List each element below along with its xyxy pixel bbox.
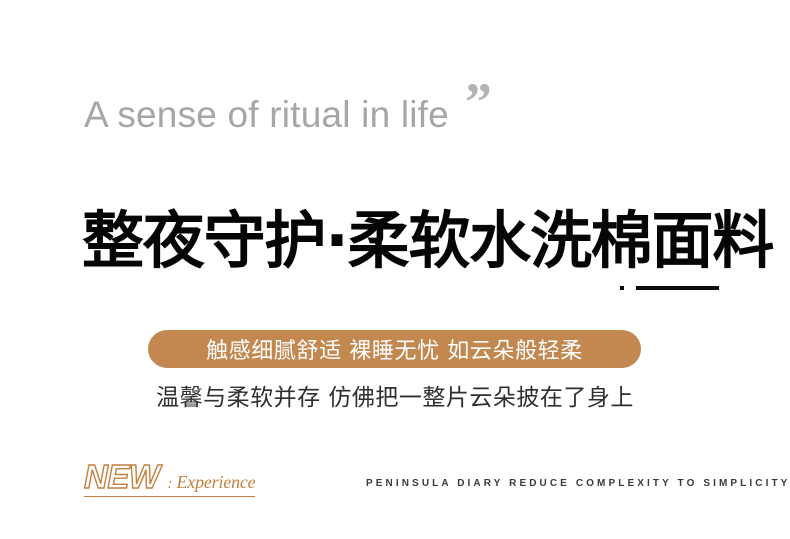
brand-logo-separator: : xyxy=(168,477,173,492)
subtitle: 温馨与柔软并存 仿佛把一整片云朵披在了身上 xyxy=(0,378,790,412)
eyebrow: A sense of ritual in life ” xyxy=(84,96,490,133)
promo-banner: A sense of ritual in life ” 整夜守护·柔软水洗棉面料… xyxy=(0,0,790,539)
feature-pill: 触感细腻舒适 裸睡无忧 如云朵般轻柔 xyxy=(148,330,641,368)
page-title: 整夜守护·柔软水洗棉面料 xyxy=(82,208,773,275)
quote-mark-icon: ” xyxy=(465,86,490,119)
footer-tagline: PENINSULA DIARY REDUCE COMPLEXITY TO SIM… xyxy=(366,478,790,489)
eyebrow-text: A sense of ritual in life xyxy=(84,96,449,133)
brand-logo-main: NEW xyxy=(84,460,160,493)
brand-logo: NEW : Experience xyxy=(84,460,255,497)
accent-rule xyxy=(620,286,719,290)
feature-pill-label: 触感细腻舒适 裸睡无忧 如云朵般轻柔 xyxy=(206,333,583,365)
accent-dot-icon xyxy=(620,286,624,290)
accent-bar-icon xyxy=(636,286,719,290)
brand-logo-sub: Experience xyxy=(177,473,256,491)
